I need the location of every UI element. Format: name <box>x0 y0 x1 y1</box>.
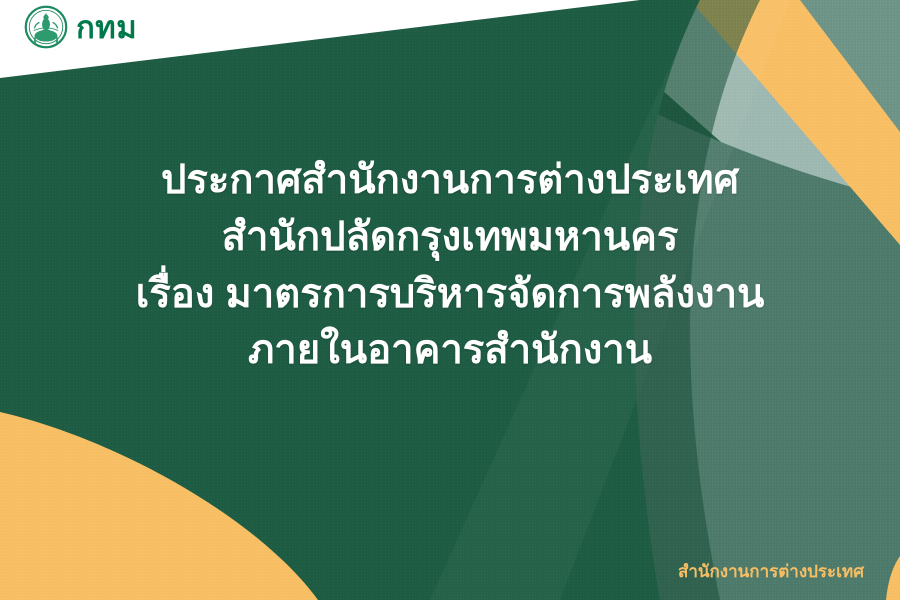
page-title: ประกาศสำนักงานการต่างประเทศ สำนักปลัดกรุ… <box>0 152 900 379</box>
brand-lockup: กทม <box>24 4 137 50</box>
brand-wordmark: กทม <box>76 12 137 43</box>
headline-line-3: เรื่อง มาตรการบริหารจัดการพลังงาน <box>24 266 876 323</box>
bangkok-metropolitan-administration-seal-icon <box>24 5 68 49</box>
headline-line-2: สำนักปลัดกรุงเทพมหานคร <box>24 209 876 266</box>
poster-canvas: กทม ประกาศสำนักงานการต่างประเทศ สำนักปลั… <box>0 0 900 600</box>
headline-line-4: ภายในอาคารสำนักงาน <box>24 322 876 379</box>
headline-line-1: ประกาศสำนักงานการต่างประเทศ <box>24 152 876 209</box>
footer-department-label: สำนักงานการต่างประเทศ <box>678 563 864 580</box>
